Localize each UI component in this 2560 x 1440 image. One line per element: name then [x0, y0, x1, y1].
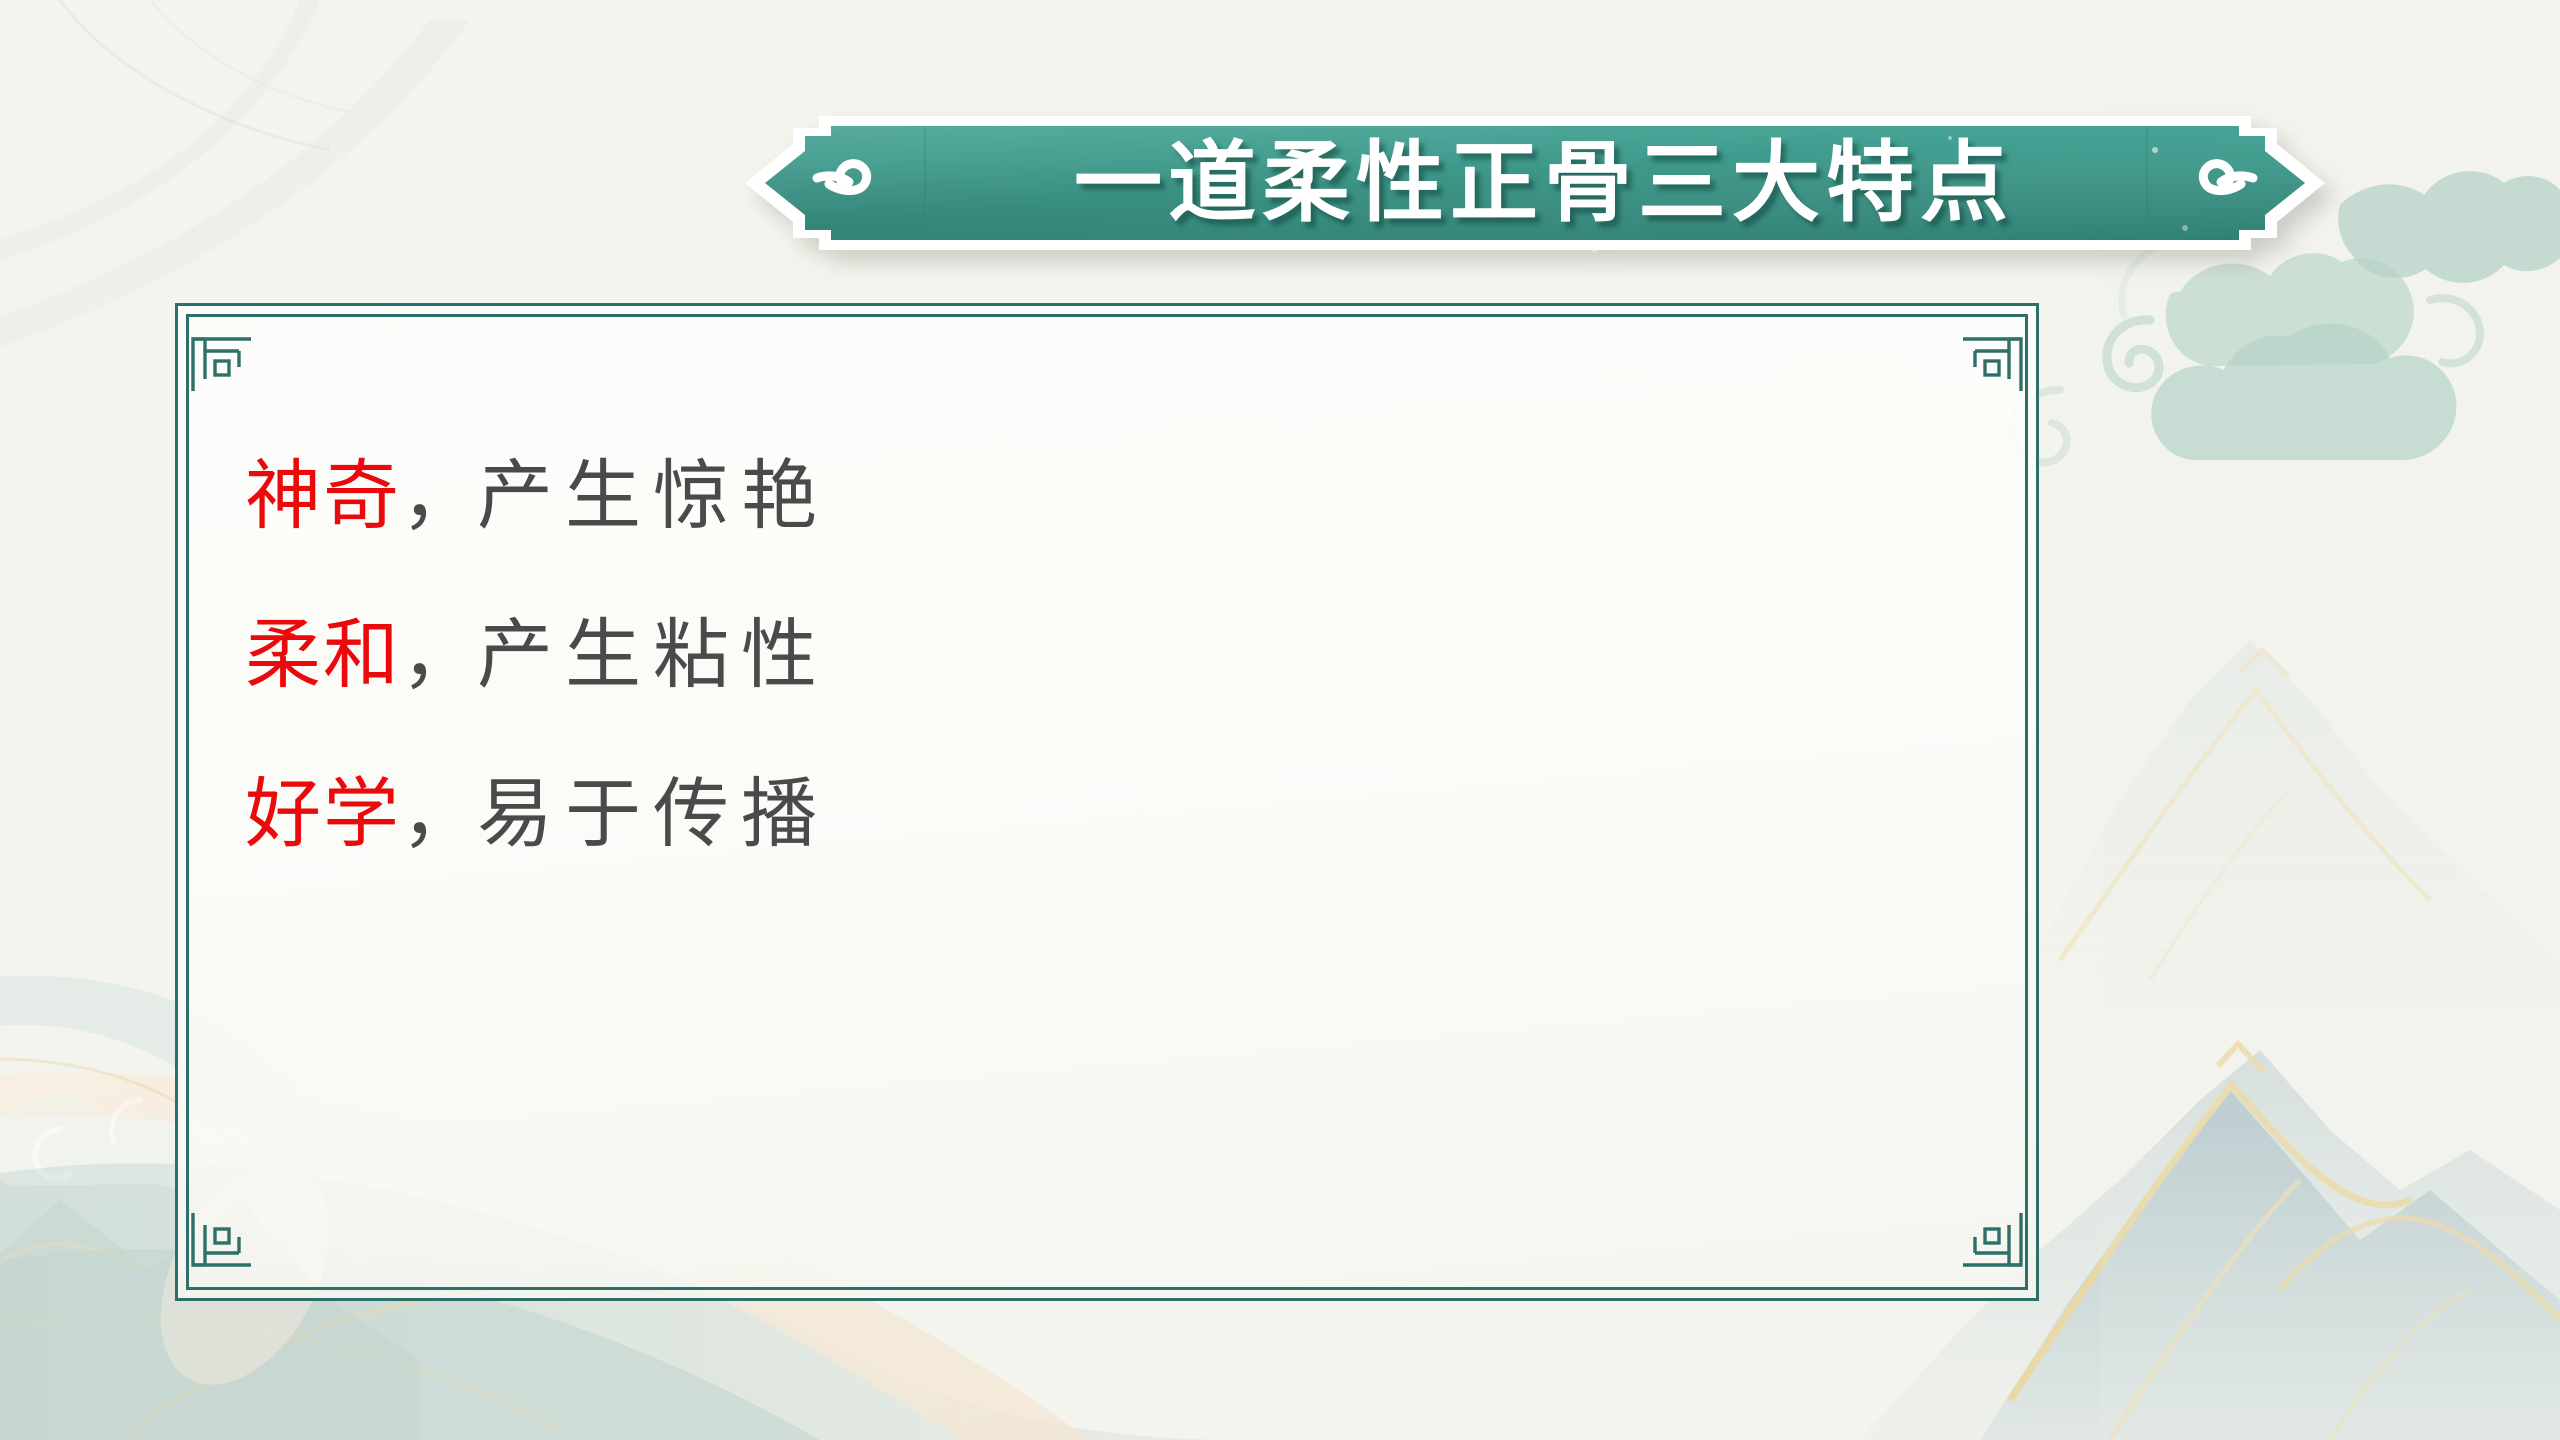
feature-body: 产生粘性: [477, 614, 829, 698]
feature-keyword: 柔和: [245, 614, 401, 698]
feature-separator: ，: [401, 455, 477, 539]
corner-fret-ornament-bottom-left-icon: [189, 1209, 267, 1287]
list-item: 好学，易于传播: [245, 776, 1969, 856]
feature-body: 产生惊艳: [477, 455, 829, 539]
feature-body: 易于传播: [477, 773, 829, 857]
list-item: 柔和，产生粘性: [245, 617, 1969, 697]
corner-fret-ornament-top-right-icon: [1947, 317, 2025, 395]
mid-right-mountain: [2020, 640, 2560, 1010]
feature-separator: ，: [401, 614, 477, 698]
corner-fret-ornament-bottom-right-icon: [1947, 1209, 2025, 1287]
feature-list: 神奇，产生惊艳 柔和，产生粘性 好学，易于传播: [245, 458, 1969, 855]
banner-title-text: 一道柔性正骨三大特点: [735, 98, 2335, 268]
feature-keyword: 好学: [245, 773, 401, 857]
feature-keyword: 神奇: [245, 455, 401, 539]
corner-fret-ornament-top-left-icon: [189, 317, 267, 395]
feature-separator: ，: [401, 773, 477, 857]
content-frame: 神奇，产生惊艳 柔和，产生粘性 好学，易于传播: [175, 303, 2039, 1301]
slide-canvas: 一道柔性正骨三大特点: [0, 0, 2560, 1440]
title-banner: 一道柔性正骨三大特点: [735, 98, 2335, 268]
list-item: 神奇，产生惊艳: [245, 458, 1969, 538]
